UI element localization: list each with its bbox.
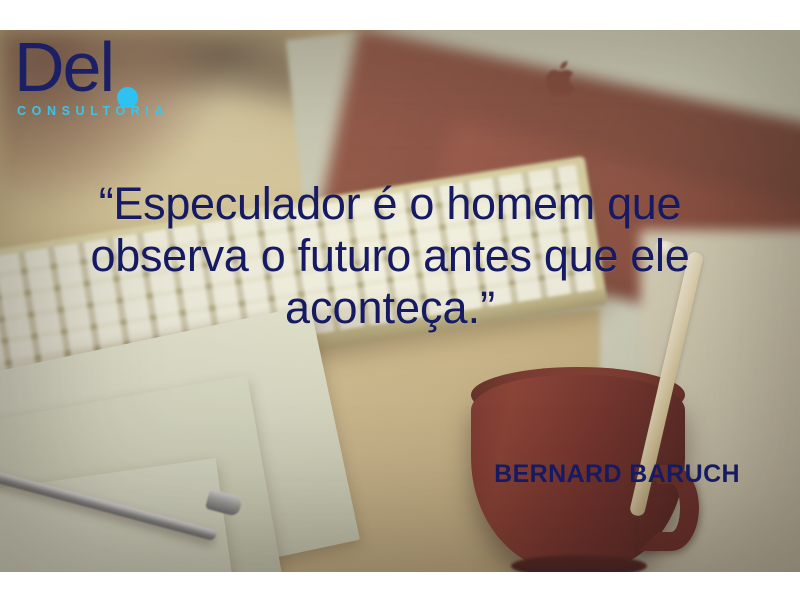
quote-image-canvas: Del CONSULTORIA “Especulador é o homem q… xyxy=(0,0,800,600)
mug-base xyxy=(511,555,647,572)
quote-author: BERNARD BARUCH xyxy=(0,460,740,489)
brand-wordmark: Del xyxy=(14,32,113,102)
brand-tagline: CONSULTORIA xyxy=(17,104,184,118)
quote-line-1: “Especulador é o homem que xyxy=(0,178,780,230)
quote-text: “Especulador é o homem que observa o fut… xyxy=(0,178,780,334)
quote-line-3: aconteça.” xyxy=(0,282,780,334)
brand-dot-icon xyxy=(117,87,138,108)
brand-logo: Del CONSULTORIA xyxy=(14,32,184,118)
quote-line-2: observa o futuro antes que ele xyxy=(0,230,780,282)
